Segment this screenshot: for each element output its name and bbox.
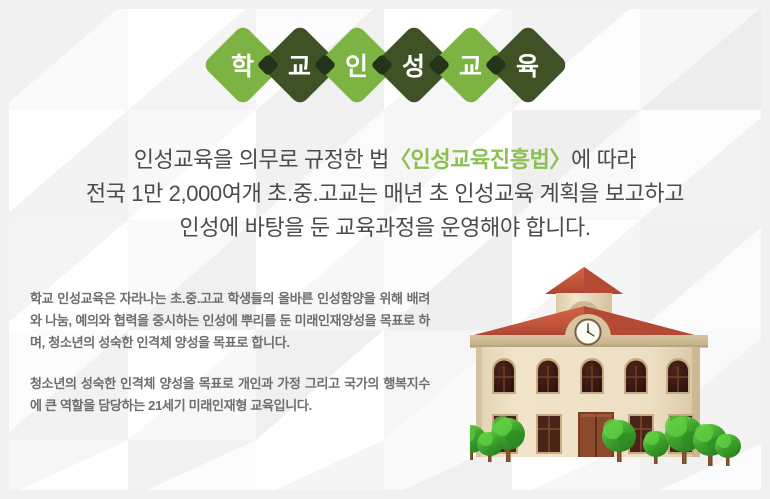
headline-line-2: 전국 1만 2,000여개 초.중.고교는 매년 초 인성교육 계획을 보고하고 — [35, 177, 735, 211]
tree — [477, 432, 503, 462]
headline-line-3: 인성에 바탕을 둔 교육과정을 운영해야 합니다. — [35, 211, 735, 245]
body-paragraph-2: 청소년의 성숙한 인격체 양성을 목표로 개인과 가정 그리고 국가의 행복지수… — [30, 373, 430, 417]
headline-law-name: 〈인성교육진흥법〉 — [389, 147, 571, 172]
title-diamond-5: 육 — [494, 24, 562, 106]
poster-canvas: 학 교 인 성 교 육 인성교육을 의무로 규정한 법〈인성교육진흥법〉에 따라… — [0, 0, 770, 499]
arched-window — [492, 358, 516, 394]
arched-window — [624, 358, 648, 394]
headline: 인성교육을 의무로 규정한 법〈인성교육진흥법〉에 따라 전국 1만 2,000… — [35, 143, 735, 245]
arched-window — [580, 358, 604, 394]
body-text-column: 학교 인성교육은 자라나는 초.중.고교 학생들의 올바른 인성함양을 위해 배… — [30, 288, 430, 417]
diamond-char-5: 육 — [494, 24, 562, 106]
rectangular-window — [536, 414, 562, 454]
headline-line-1: 인성교육을 의무로 규정한 법〈인성교육진흥법〉에 따라 — [35, 143, 735, 177]
tree — [643, 431, 669, 464]
trees — [470, 415, 741, 466]
title-banner: 학 교 인 성 교 육 — [0, 24, 770, 106]
clock — [575, 319, 602, 346]
tree — [715, 434, 741, 466]
body-paragraph-1: 학교 인성교육은 자라나는 초.중.고교 학생들의 올바른 인성함양을 위해 배… — [30, 288, 430, 354]
arched-window — [536, 358, 560, 394]
arched-window — [666, 358, 690, 394]
school-building-illustration — [470, 262, 770, 499]
headline-line-1-after: 에 따라 — [571, 147, 636, 172]
headline-line-1-before: 인성교육을 의무로 규정한 법 — [134, 147, 389, 172]
